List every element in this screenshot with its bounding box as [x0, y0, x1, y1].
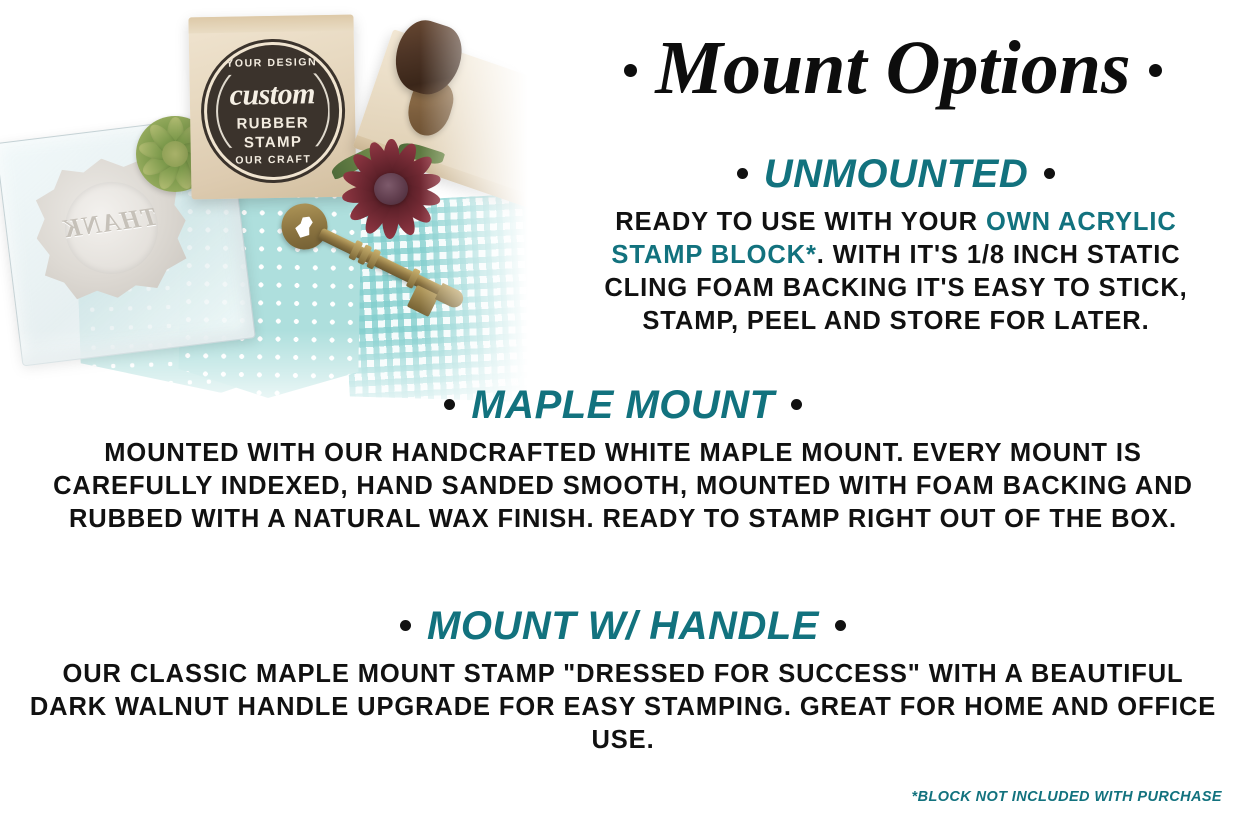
- flower-center: [374, 173, 408, 205]
- section-maple-mount: MAPLE MOUNT MOUNTED WITH OUR HANDCRAFTED…: [28, 383, 1218, 536]
- custom-rubber-stamp-badge: YOUR DESIGN custom RUBBER STAMP OUR CRAF…: [205, 43, 339, 177]
- section-maple-mount-heading-text: MAPLE MOUNT: [471, 383, 774, 427]
- heading-bullet-left-icon: [737, 168, 748, 179]
- section-unmounted-body: READY TO USE WITH YOUR OWN ACRYLIC STAMP…: [566, 206, 1226, 339]
- section-mount-with-handle-body: OUR CLASSIC MAPLE MOUNT STAMP "DRESSED F…: [28, 658, 1218, 757]
- heading-bullet-right-icon: [835, 620, 846, 631]
- heading-bullet-left-icon: [400, 620, 411, 631]
- badge-line1-label: RUBBER: [207, 113, 339, 132]
- section-unmounted: UNMOUNTED READY TO USE WITH YOUR OWN ACR…: [566, 152, 1226, 339]
- section-unmounted-heading-text: UNMOUNTED: [764, 152, 1028, 196]
- title-bullet-left-icon: [624, 64, 637, 77]
- section-mount-with-handle-heading-text: MOUNT W/ HANDLE: [427, 604, 819, 648]
- section-unmounted-heading: UNMOUNTED: [566, 152, 1226, 197]
- section-mount-with-handle: MOUNT W/ HANDLE OUR CLASSIC MAPLE MOUNT …: [28, 604, 1218, 757]
- body-part: MOUNTED WITH OUR HANDCRAFTED WHITE MAPLE…: [53, 439, 1193, 533]
- page-title-text: Mount Options: [655, 26, 1130, 110]
- product-photo-collage: THANK YOUR DESIGN custom RUBBER STAMP OU…: [0, 0, 560, 440]
- section-maple-mount-body: MOUNTED WITH OUR HANDCRAFTED WHITE MAPLE…: [28, 437, 1218, 536]
- title-bullet-right-icon: [1149, 64, 1162, 77]
- heading-bullet-right-icon: [1044, 168, 1055, 179]
- heading-bullet-right-icon: [791, 399, 802, 410]
- badge-arc-bottom-label: OUR CRAFT: [207, 152, 339, 166]
- badge-script-label: custom: [206, 76, 339, 112]
- section-maple-mount-heading: MAPLE MOUNT: [28, 383, 1218, 428]
- body-part: OUR CLASSIC MAPLE MOUNT STAMP "DRESSED F…: [30, 660, 1216, 754]
- badge-arc-top-label: YOUR DESIGN: [206, 55, 338, 69]
- key-bow-hole: [290, 212, 318, 241]
- heading-bullet-left-icon: [444, 399, 455, 410]
- section-mount-with-handle-heading: MOUNT W/ HANDLE: [28, 604, 1218, 649]
- page-title: Mount Options: [548, 30, 1238, 108]
- badge-line2-label: STAMP: [207, 132, 339, 151]
- mount-options-infographic: THANK YOUR DESIGN custom RUBBER STAMP OU…: [0, 0, 1244, 829]
- body-part: READY TO USE WITH YOUR: [615, 208, 986, 236]
- footnote: *BLOCK NOT INCLUDED WITH PURCHASE: [912, 789, 1222, 805]
- succulent-core: [162, 141, 188, 167]
